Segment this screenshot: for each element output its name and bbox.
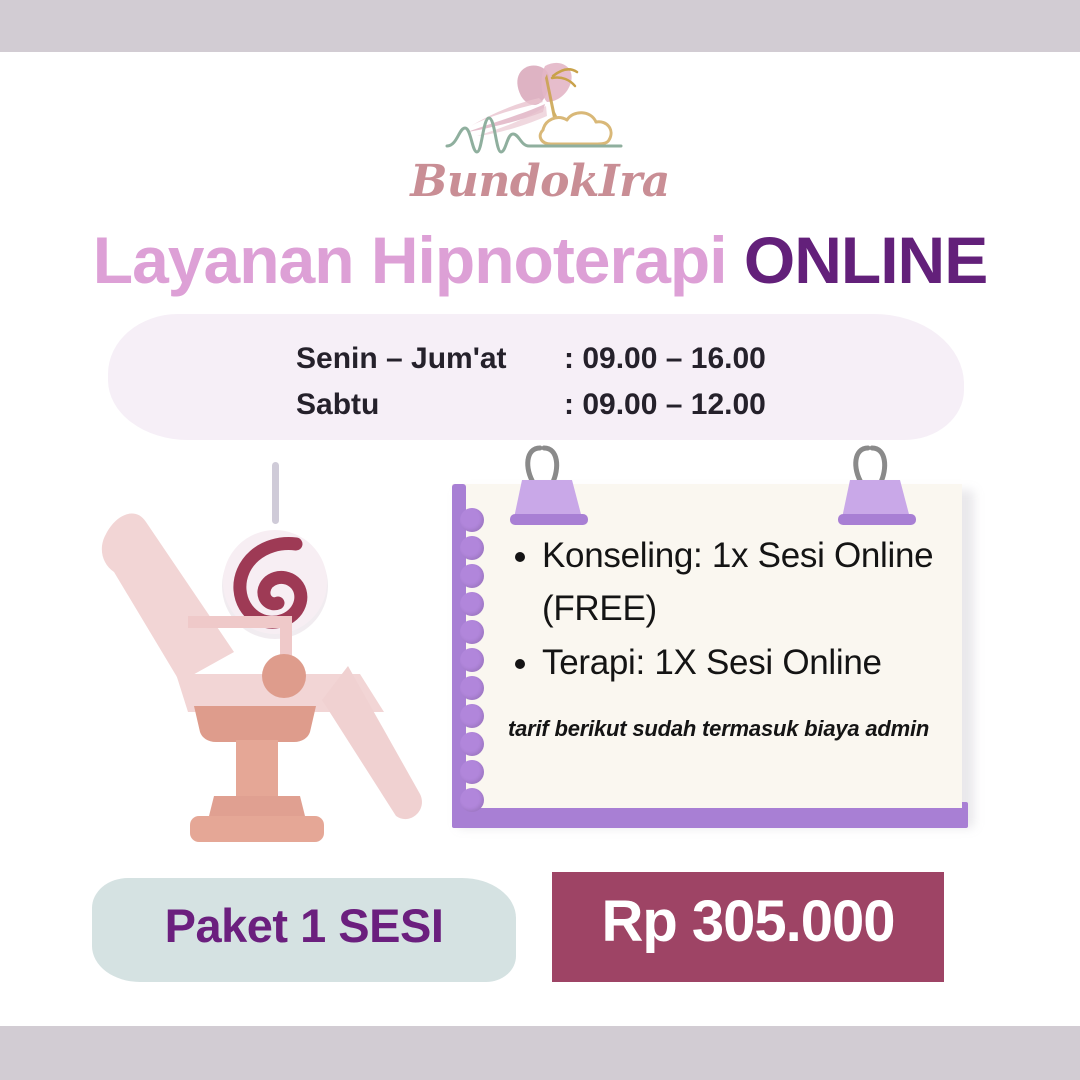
price-value: Rp 305.000 [552,888,944,955]
brand-name: BundokIra [410,156,670,207]
spiral-ring [460,508,484,532]
page-title: Layanan Hipnoterapi ONLINE [0,222,1080,298]
page-title-accent: ONLINE [744,223,987,297]
therapy-recliner-chair-icon [84,444,444,844]
schedule-day: Sabtu [296,388,564,422]
spiral-ring [460,760,484,784]
pendulum-string [272,462,279,524]
spiral-ring [460,592,484,616]
spiral-ring [460,788,484,812]
page-title-primary: Layanan Hipnoterapi [93,223,744,297]
bottom-band [0,1026,1080,1080]
schedule-time: : 09.00 – 12.00 [564,388,884,422]
schedule-row: Senin – Jum'at : 09.00 – 16.00 [296,342,916,388]
top-band [0,0,1080,52]
service-list: Konseling: 1x Sesi Online (FREE) Terapi:… [510,530,940,690]
spiral-ring [460,704,484,728]
list-item: Terapi: 1X Sesi Online [542,637,940,690]
spiral-ring [460,676,484,700]
package-label: Paket 1 SESI [92,898,516,953]
spiral-ring [460,564,484,588]
poster-canvas: BundokIra Layanan Hipnoterapi ONLINE Sen… [0,0,1080,1080]
list-item: Konseling: 1x Sesi Online (FREE) [542,530,940,635]
binder-clip-icon [510,440,596,540]
schedule-row: Sabtu : 09.00 – 12.00 [296,388,916,434]
spiral-ring [460,536,484,560]
spiral-ring [460,648,484,672]
butterfly-cloud-heartbeat-logo-icon [425,56,655,168]
spiral-ring [460,732,484,756]
schedule-time: : 09.00 – 16.00 [564,342,884,376]
spiral-ring [460,620,484,644]
brand-logo: BundokIra [0,56,1080,221]
notepad-content: Konseling: 1x Sesi Online (FREE) Terapi:… [510,530,940,742]
binder-clip-icon [838,440,924,540]
schedule-day: Senin – Jum'at [296,342,564,376]
schedule-block: Senin – Jum'at : 09.00 – 16.00 Sabtu : 0… [296,342,916,434]
notepad-footnote: tarif berikut sudah termasuk biaya admin [508,716,940,742]
